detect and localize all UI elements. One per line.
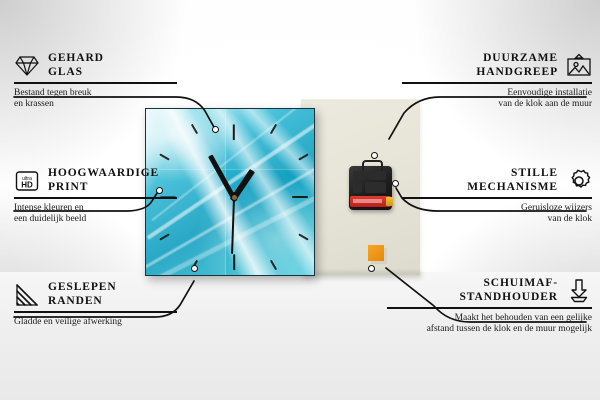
callout-stille-mechanisme: STILLE MECHANISME Geruisloze wijzers van…: [402, 167, 592, 226]
gear-icon: [566, 168, 592, 194]
callout-description: Maakt het behouden van een gelijke afsta…: [387, 313, 592, 336]
bevel-edge-icon: [14, 282, 40, 308]
infographic-canvas: GEHARD GLAS Bestand tegen breuk en krass…: [0, 0, 600, 400]
callout-description: Eenvoudige installatie van de klok aan d…: [402, 88, 592, 111]
callout-title: GESLEPEN RANDEN: [48, 281, 117, 308]
callout-duurzame-handgreep: DUURZAME HANDGREEP Eenvoudige installati…: [402, 52, 592, 111]
battery-label-stripe: [353, 199, 382, 203]
callout-rule: [14, 82, 177, 84]
arrow-down-pad-icon: [566, 278, 592, 304]
callout-title: DUURZAME HANDGREEP: [476, 52, 558, 79]
callout-rule: [387, 307, 592, 309]
foam-spacer-pad: [368, 245, 384, 261]
callout-description: Intense kleuren en een duidelijk beeld: [14, 203, 182, 226]
picture-frame-icon: [566, 53, 592, 79]
svg-text:HD: HD: [21, 180, 33, 189]
callout-rule: [14, 311, 177, 313]
callout-title: SCHUIMAF- STANDHOUDER: [459, 277, 558, 304]
callout-dot-duurzame-handgreep: [371, 152, 378, 159]
callout-schuimaf-standhouder: SCHUIMAF- STANDHOUDER Maakt het behouden…: [387, 277, 592, 336]
callout-title: STILLE MECHANISME: [467, 167, 558, 194]
callout-hoogwaardige-print: ultra HD HOOGWAARDIGE PRINT Intense kleu…: [14, 167, 182, 226]
callout-description: Geruisloze wijzers van de klok: [402, 203, 592, 226]
callout-description: Bestand tegen breuk en krassen: [14, 88, 174, 111]
clock-tick: [233, 254, 235, 270]
callout-dot-stille-mechanisme: [392, 180, 399, 187]
callout-rule: [402, 197, 592, 199]
callout-rule: [14, 197, 177, 199]
callout-dot-schuimaf-standhouder: [368, 265, 375, 272]
mechanism-detail: [353, 171, 365, 180]
callout-title: HOOGWAARDIGE PRINT: [48, 167, 159, 194]
ultra-hd-icon: ultra HD: [14, 168, 40, 194]
callout-description: Gladde en veilige afwerking: [14, 317, 182, 329]
mechanism-detail: [368, 171, 386, 180]
callout-dot-gehard-glas: [212, 126, 219, 133]
callout-dot-geslepen-randen: [191, 265, 198, 272]
callout-geslepen-randen: GESLEPEN RANDEN Gladde en veilige afwerk…: [14, 281, 182, 328]
clock-center-hub: [232, 195, 237, 200]
callout-gehard-glas: GEHARD GLAS Bestand tegen breuk en krass…: [14, 52, 174, 111]
battery-positive-cap: [386, 197, 393, 206]
mechanism-detail: [353, 182, 362, 193]
mechanism-detail: [365, 182, 386, 193]
glass-reflection-horizontal: [146, 109, 314, 170]
callout-rule: [402, 82, 592, 84]
diamond-icon: [14, 53, 40, 79]
battery: [350, 196, 391, 207]
callout-title: GEHARD GLAS: [48, 52, 104, 79]
